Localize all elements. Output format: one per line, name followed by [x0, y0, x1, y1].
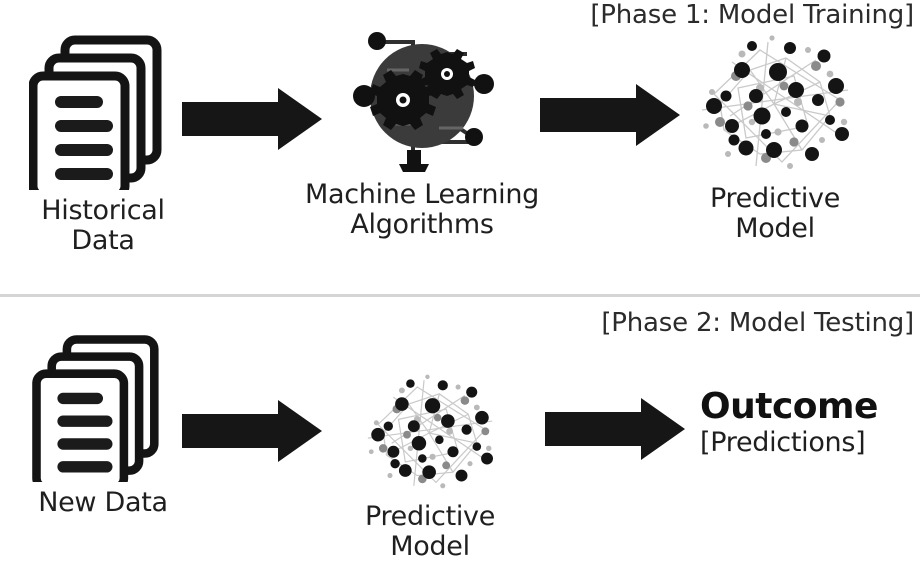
arrow-right-icon: [545, 398, 685, 460]
outcome-title: Outcome: [700, 388, 878, 426]
node-cloud-icon: [349, 370, 511, 496]
diagram-canvas: [Phase 1: Model Training] Historical Dat: [0, 0, 920, 579]
arrow-right-icon: [182, 400, 322, 462]
outcome-block: Outcome [Predictions]: [700, 388, 878, 457]
phase-2-label: [Phase 2: Model Testing]: [601, 308, 914, 338]
step-new-data: New Data: [18, 330, 188, 518]
phase-1-label: [Phase 1: Model Training]: [590, 0, 914, 30]
arrow-right-icon: [540, 84, 680, 146]
node-cloud-icon: [690, 30, 860, 178]
step-caption: Predictive Model: [365, 502, 495, 562]
documents-stack-icon: [29, 30, 177, 190]
step-predictive-model-trained: Predictive Model: [680, 30, 870, 244]
step-caption: Machine Learning Algorithms: [305, 180, 539, 240]
outcome-subtitle: [Predictions]: [700, 428, 865, 458]
documents-stack-icon: [29, 330, 177, 482]
step-machine-learning-algorithms: Machine Learning Algorithms: [282, 24, 562, 240]
step-caption: Predictive Model: [710, 184, 840, 244]
phase-divider: [0, 294, 920, 297]
step-caption: Historical Data: [41, 196, 164, 256]
step-caption: New Data: [38, 488, 168, 518]
gears-circuit-icon: [347, 24, 497, 174]
step-predictive-model-applied: Predictive Model: [345, 370, 515, 562]
step-historical-data: Historical Data: [18, 30, 188, 256]
